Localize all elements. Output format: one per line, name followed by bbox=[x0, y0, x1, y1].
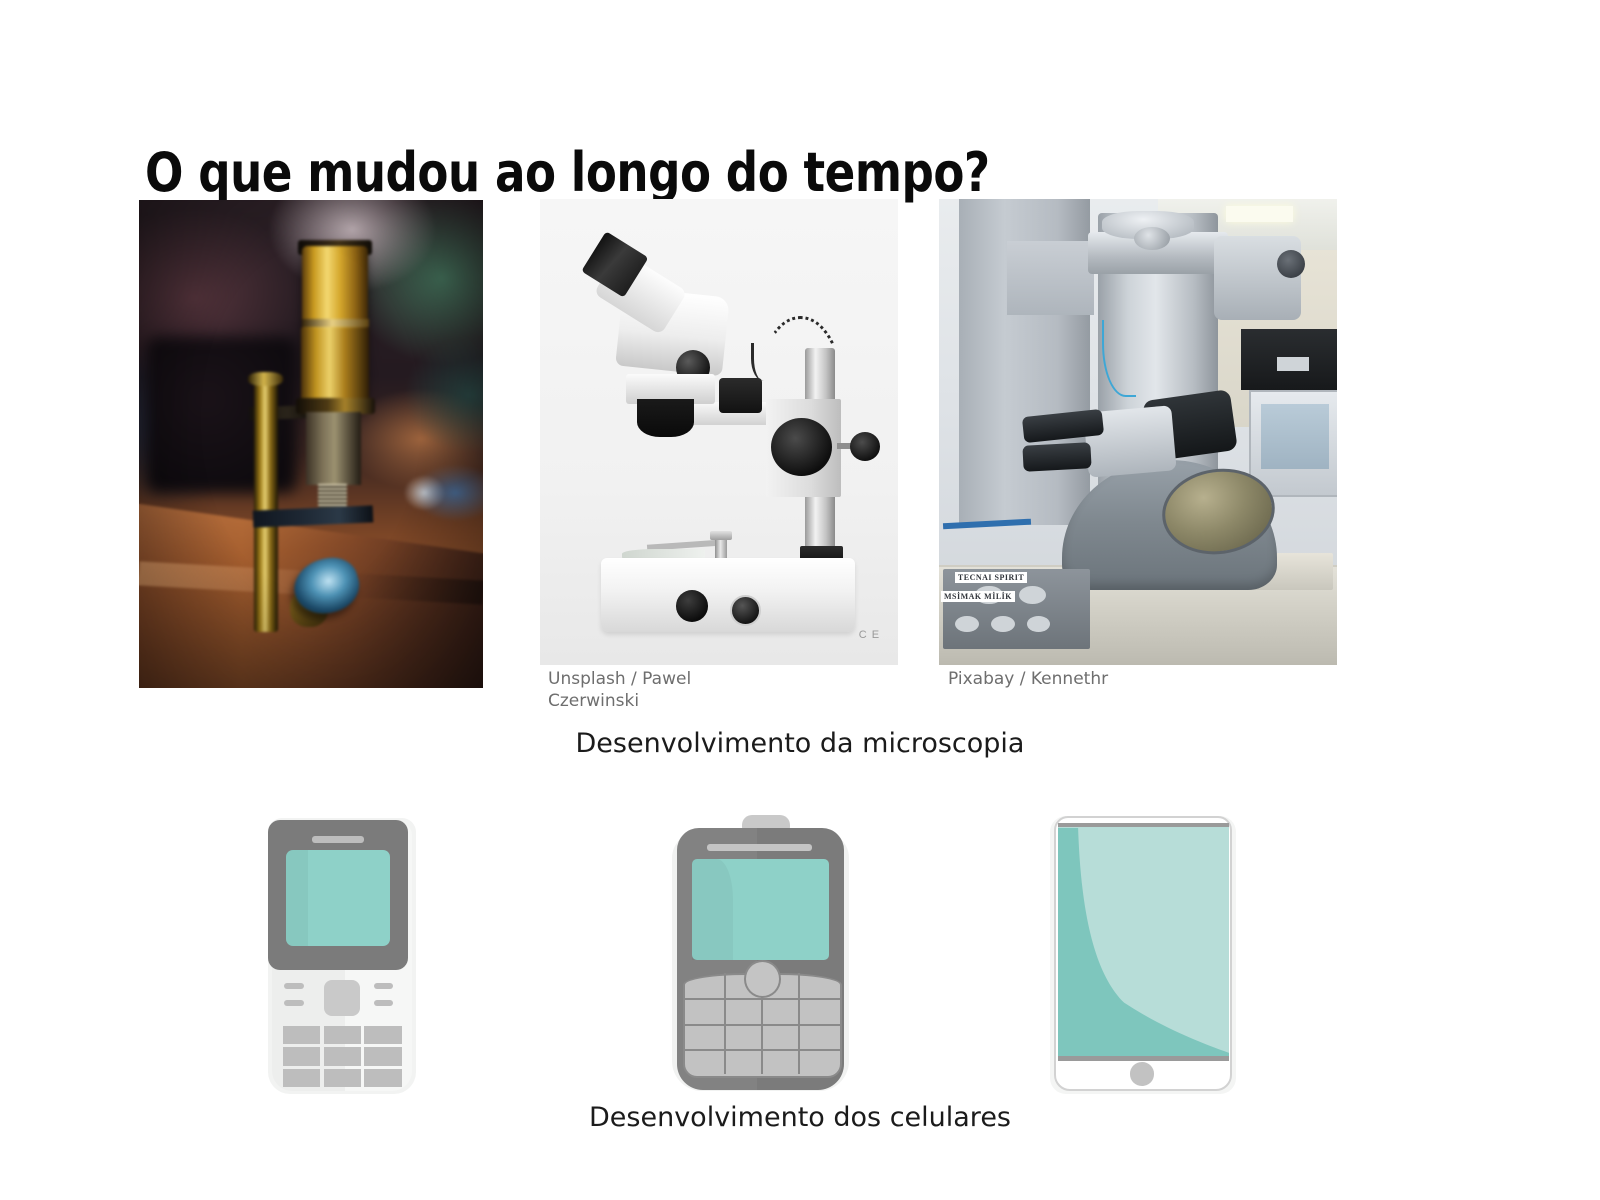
image-electron-microscope: TECNAI SPIRIT MSİMAK MİLİK bbox=[939, 199, 1337, 665]
optical-cable-loop bbox=[751, 343, 772, 380]
illustration-feature-phone bbox=[262, 812, 422, 1094]
caption-phones: Desenvolvimento dos celulares bbox=[0, 1102, 1600, 1133]
smartphone-screen bbox=[1058, 823, 1229, 1059]
feature-phone-key bbox=[283, 1026, 321, 1044]
illustration-pda-phone bbox=[668, 812, 853, 1094]
feature-phone-softkey bbox=[374, 983, 393, 989]
electron-eyepiece-lower bbox=[1022, 442, 1091, 471]
feature-phone-key bbox=[324, 1047, 362, 1065]
feature-phone-key bbox=[324, 1069, 362, 1087]
pda-phone-speaker bbox=[707, 844, 812, 851]
page-title: O que mudou ao longo do tempo? bbox=[145, 143, 1373, 203]
slide-canvas: O que mudou ao longo do tempo? bbox=[0, 0, 1600, 1200]
lab-monitor-upper-display bbox=[1277, 357, 1309, 371]
feature-phone-key bbox=[283, 1069, 321, 1087]
image-antique-microscope bbox=[139, 200, 483, 688]
feature-phone-key bbox=[364, 1026, 402, 1044]
feature-phone-key bbox=[324, 1026, 362, 1044]
image-credit-optical: Unsplash / Pawel Czerwinski bbox=[548, 668, 748, 712]
antique-vignette bbox=[139, 200, 483, 688]
feature-phone-softkey bbox=[374, 1000, 393, 1006]
ce-marking-label: C E bbox=[859, 629, 880, 641]
pda-phone-key-divider bbox=[798, 973, 800, 1075]
pda-phone-screen-gloss bbox=[692, 859, 733, 961]
optical-illuminator bbox=[719, 378, 762, 413]
smartphone-status-bar bbox=[1058, 823, 1229, 827]
feature-phone-screen-gloss bbox=[286, 850, 308, 946]
panel-label-msimak: MSİMAK MİLİK bbox=[941, 591, 1015, 602]
optical-focus-knob bbox=[771, 418, 832, 476]
feature-phone-key bbox=[283, 1047, 321, 1065]
feature-phone-softkey bbox=[284, 983, 303, 989]
optical-base-knob-right bbox=[730, 595, 761, 626]
feature-phone-key bbox=[364, 1047, 402, 1065]
pda-phone-trackball bbox=[744, 960, 781, 998]
image-credit-electron: Pixabay / Kennethr bbox=[948, 668, 1208, 690]
lab-monitor-screen bbox=[1261, 404, 1329, 469]
electron-column-notch bbox=[1007, 241, 1095, 316]
electron-detector-module bbox=[1214, 236, 1302, 320]
smartphone-home-button bbox=[1130, 1062, 1155, 1086]
feature-phone-softkey bbox=[284, 1000, 303, 1006]
smartphone-bottom-bar bbox=[1058, 1056, 1229, 1060]
feature-phone-key bbox=[364, 1069, 402, 1087]
pda-phone-key-divider bbox=[724, 973, 726, 1075]
image-optical-microscope: C E bbox=[540, 199, 898, 665]
caption-microscopy: Desenvolvimento da microscopia bbox=[0, 728, 1600, 759]
control-panel-button bbox=[991, 616, 1015, 632]
panel-label-tecnai: TECNAI SPIRIT bbox=[955, 572, 1027, 583]
optical-base bbox=[601, 558, 855, 633]
ceiling-light bbox=[1226, 206, 1294, 222]
optical-stage-screw-head bbox=[710, 531, 731, 540]
feature-phone-speaker bbox=[312, 836, 365, 843]
optical-objective-lens bbox=[637, 399, 694, 436]
feature-phone-navigation-pad bbox=[324, 980, 361, 1017]
smartphone-wallpaper-shape bbox=[1058, 828, 1229, 1060]
illustration-smartphone bbox=[1048, 816, 1238, 1094]
electron-top-knob bbox=[1134, 227, 1170, 250]
